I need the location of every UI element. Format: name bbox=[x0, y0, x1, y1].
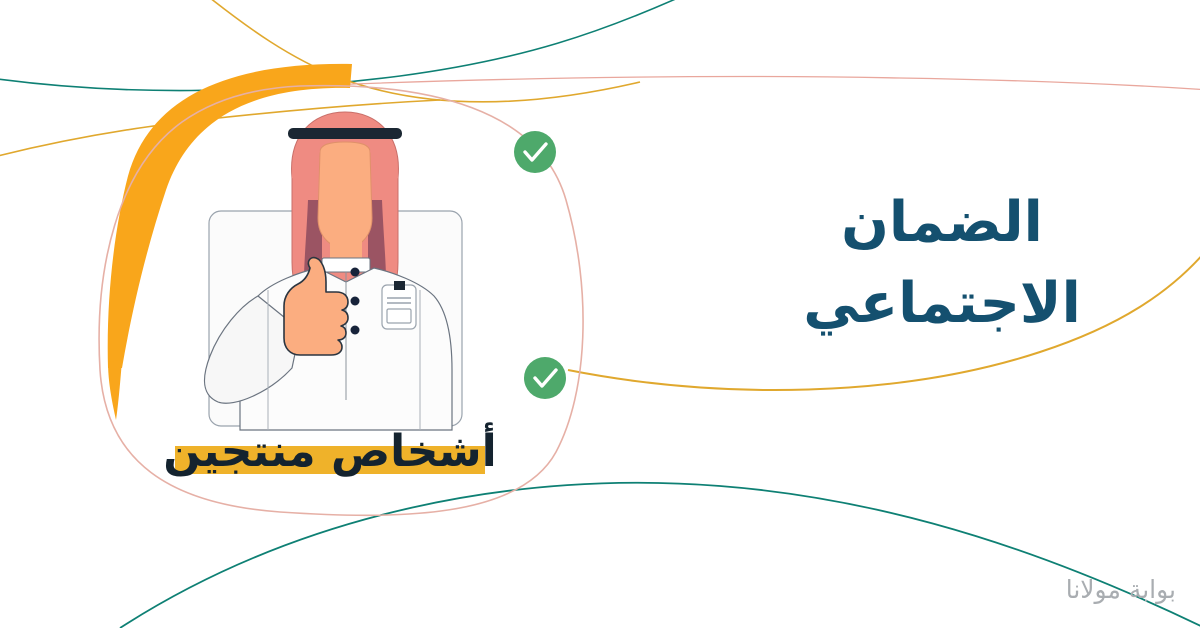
headline-line-1: الضمان bbox=[732, 182, 1152, 263]
check-badge-bottom-circle bbox=[524, 357, 566, 399]
check-badge-bottom[interactable] bbox=[524, 357, 566, 399]
headline-line-2: الاجتماعي bbox=[732, 263, 1152, 344]
subtitle-block: أشخاص منتجين bbox=[120, 428, 540, 476]
poster-canvas: الضمان الاجتماعي أشخاص منتجين بوابة مولا… bbox=[0, 0, 1200, 628]
watermark: بوابة مولانا bbox=[1066, 575, 1176, 604]
check-badge-top-circle bbox=[514, 131, 556, 173]
headline-block: الضمان الاجتماعي bbox=[732, 182, 1152, 344]
subtitle-text: أشخاص منتجين bbox=[157, 428, 503, 476]
check-badge-top[interactable] bbox=[514, 131, 556, 173]
subtitle-label: أشخاص منتجين bbox=[163, 426, 497, 477]
